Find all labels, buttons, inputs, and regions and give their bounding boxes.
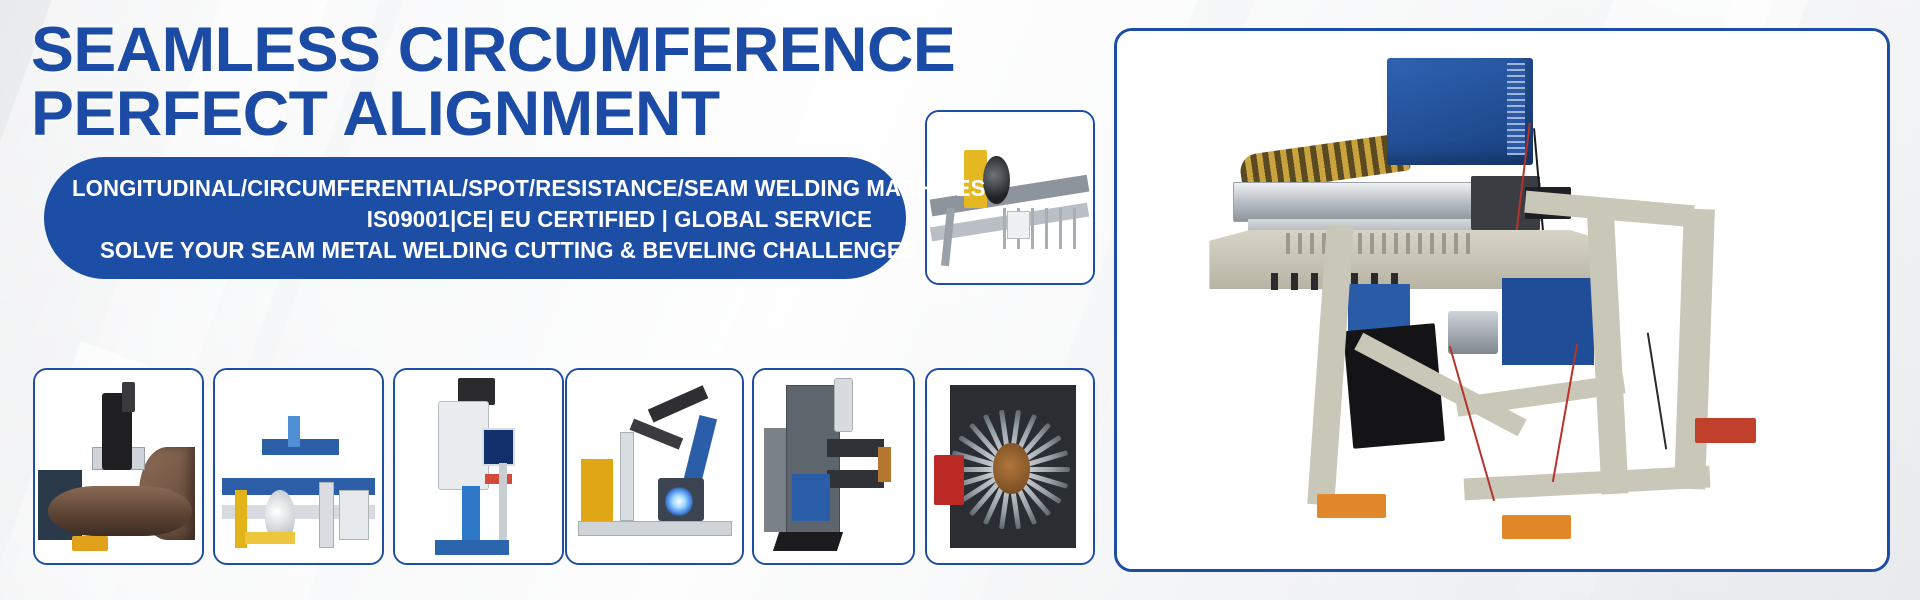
pipe-elbow-welding-machine-image xyxy=(35,370,202,563)
robotic-arc-welding-cell-thumbnail[interactable] xyxy=(565,368,744,565)
circumferential-seam-welding-machine-image xyxy=(1117,31,1887,569)
circumferential-seam-welding-machine-hero[interactable] xyxy=(1114,28,1890,572)
promo-banner: SEAMLESS CIRCUMFERENCE PERFECT ALIGNMENT… xyxy=(0,0,1920,600)
callout-line-2: IS09001|CE| EU CERTIFIED | GLOBAL SERVIC… xyxy=(100,206,872,233)
resistance-spot-welder-thumbnail[interactable] xyxy=(752,368,915,565)
rotary-spider-fixture-thumbnail[interactable] xyxy=(925,368,1095,565)
column-boom-welder-thumbnail[interactable] xyxy=(393,368,564,565)
longitudinal-seam-welder-image xyxy=(215,370,382,563)
headline: SEAMLESS CIRCUMFERENCE PERFECT ALIGNMENT xyxy=(31,22,937,144)
callout-line-1: LONGITUDINAL/CIRCUMFERENTIAL/SPOT/RESIST… xyxy=(72,175,844,202)
rotary-spider-fixture-image xyxy=(927,370,1093,563)
robotic-arc-welding-cell-image xyxy=(567,370,742,563)
headline-line-2: PERFECT ALIGNMENT xyxy=(31,86,955,144)
callout-line-3: SOLVE YOUR SEAM METAL WELDING CUTTING & … xyxy=(100,237,872,264)
callout-pill: LONGITUDINAL/CIRCUMFERENTIAL/SPOT/RESIST… xyxy=(44,157,906,279)
pipe-elbow-welding-machine-thumbnail[interactable] xyxy=(33,368,204,565)
column-boom-welder-image xyxy=(395,370,562,563)
resistance-spot-welder-image xyxy=(754,370,913,563)
longitudinal-seam-welder-thumbnail[interactable] xyxy=(213,368,384,565)
headline-line-1: SEAMLESS CIRCUMFERENCE xyxy=(31,22,955,80)
